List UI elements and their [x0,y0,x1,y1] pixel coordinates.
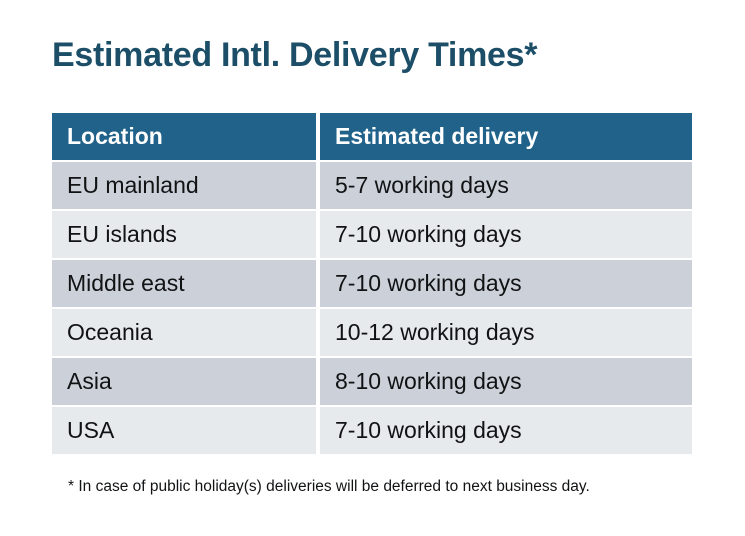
footnote: * In case of public holiday(s) deliverie… [68,478,590,496]
cell-location: Oceania [52,309,316,356]
cell-location: Middle east [52,260,316,307]
cell-location: EU islands [52,211,316,258]
cell-location: EU mainland [52,162,316,209]
table-row: EU mainland 5-7 working days [52,162,692,209]
cell-estimated-delivery: 8-10 working days [320,358,692,405]
cell-location: USA [52,407,316,454]
cell-estimated-delivery: 7-10 working days [320,407,692,454]
cell-estimated-delivery: 7-10 working days [320,211,692,258]
delivery-times-page: Estimated Intl. Delivery Times* Location… [0,0,745,536]
column-header-location: Location [52,113,316,160]
table-row: Middle east 7-10 working days [52,260,692,307]
table-row: Oceania 10-12 working days [52,309,692,356]
cell-estimated-delivery: 10-12 working days [320,309,692,356]
cell-location: Asia [52,358,316,405]
cell-estimated-delivery: 5-7 working days [320,162,692,209]
table-header-row: Location Estimated delivery [52,113,692,160]
delivery-times-table: Location Estimated delivery EU mainland … [52,113,692,454]
page-title: Estimated Intl. Delivery Times* [52,36,537,75]
table-row: EU islands 7-10 working days [52,211,692,258]
column-header-estimated-delivery: Estimated delivery [320,113,692,160]
cell-estimated-delivery: 7-10 working days [320,260,692,307]
table-row: USA 7-10 working days [52,407,692,454]
table-row: Asia 8-10 working days [52,358,692,405]
